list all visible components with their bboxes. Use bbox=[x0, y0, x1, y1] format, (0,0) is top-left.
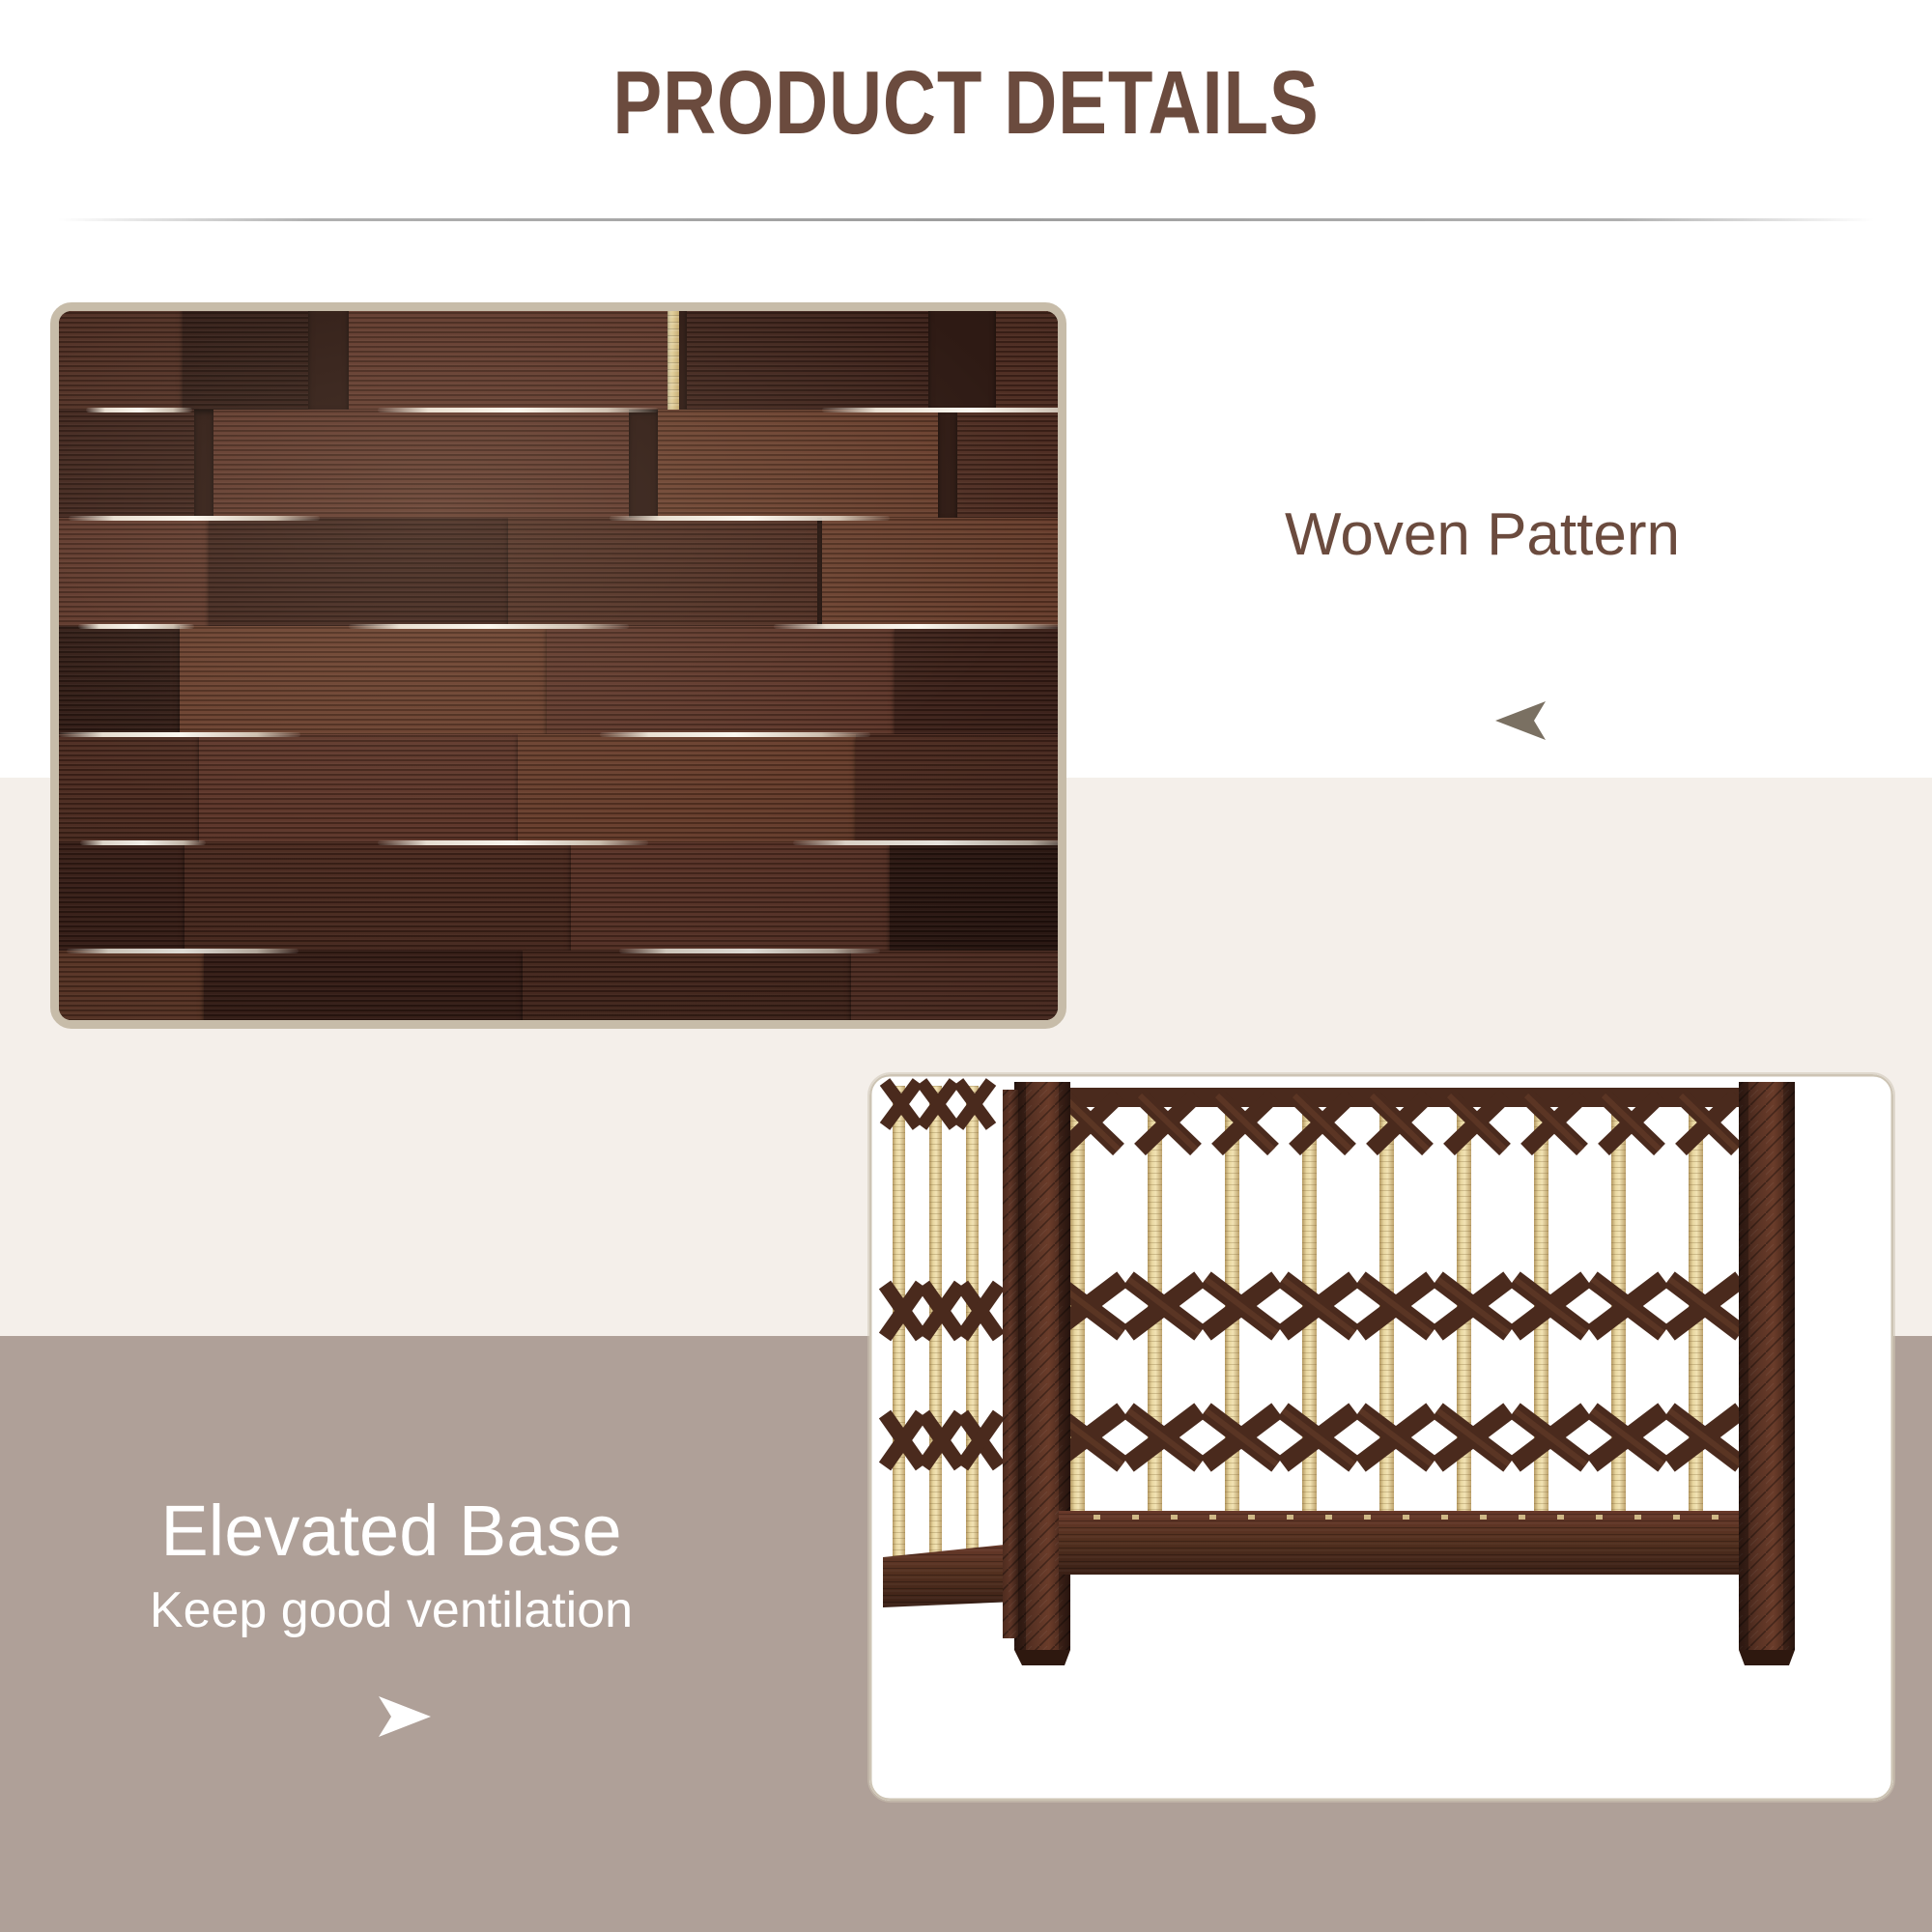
weave-gap-highlight bbox=[774, 624, 1064, 629]
weave-slat bbox=[204, 951, 523, 1029]
weave-gap-highlight bbox=[78, 624, 194, 629]
corner-post bbox=[1014, 1082, 1070, 1665]
arrow-right-icon bbox=[375, 1696, 431, 1737]
weave-slat bbox=[571, 842, 890, 951]
weave-gap-highlight bbox=[378, 408, 658, 412]
weave-gap-highlight bbox=[80, 840, 206, 845]
weave-slat bbox=[895, 626, 1066, 734]
weave-slat bbox=[508, 518, 817, 626]
woven-pattern-label: Woven Pattern bbox=[1285, 500, 1680, 569]
weave-slat bbox=[213, 410, 629, 518]
weave-slat bbox=[523, 951, 851, 1029]
weave-slat bbox=[547, 626, 895, 734]
front-bottom-rail bbox=[1059, 1511, 1793, 1575]
weave-gap-highlight bbox=[610, 516, 890, 521]
weave-slat bbox=[856, 734, 1066, 842]
planter-illustration bbox=[869, 1074, 1893, 1801]
weave-slat bbox=[50, 410, 194, 518]
weave-gap-highlight bbox=[67, 949, 298, 953]
weave-gap-highlight bbox=[619, 949, 880, 953]
weave-slat bbox=[518, 734, 856, 842]
elevated-base-subtitle: Keep good ventilation bbox=[0, 1581, 782, 1639]
weave-slat bbox=[199, 734, 518, 842]
weave-slat bbox=[851, 951, 1066, 1029]
product-details-infographic: PRODUCT DETAILS bbox=[0, 0, 1932, 1932]
weave-slat bbox=[658, 410, 938, 518]
woven-texture bbox=[59, 311, 1058, 1020]
page-title: PRODUCT DETAILS bbox=[174, 56, 1758, 151]
weave-slat bbox=[50, 302, 185, 410]
weave-gap-highlight bbox=[793, 840, 1066, 845]
weave-slat bbox=[50, 626, 180, 734]
weave-slat bbox=[180, 626, 547, 734]
weave-slat bbox=[996, 302, 1066, 410]
weave-slat bbox=[890, 842, 1066, 951]
elevated-base-image bbox=[869, 1074, 1893, 1801]
weave-slat bbox=[209, 518, 508, 626]
weave-slat bbox=[50, 734, 199, 842]
weave-slat bbox=[185, 842, 571, 951]
woven-pattern-image bbox=[50, 302, 1066, 1029]
weave-slat bbox=[50, 518, 209, 626]
weave-slat bbox=[687, 302, 928, 410]
weave-slat bbox=[50, 951, 204, 1029]
elevated-base-title: Elevated Base bbox=[0, 1490, 782, 1572]
weave-slat bbox=[50, 842, 185, 951]
weave-gap-highlight bbox=[349, 624, 629, 629]
weave-slat bbox=[183, 302, 308, 410]
weave-gap-highlight bbox=[69, 516, 320, 521]
weave-gap-highlight bbox=[86, 408, 192, 412]
weave-slat bbox=[349, 302, 668, 410]
weave-gap-highlight bbox=[59, 732, 300, 737]
arrow-left-icon bbox=[1495, 701, 1548, 740]
weave-slat bbox=[822, 518, 1066, 626]
weave-slat bbox=[957, 410, 1066, 518]
weave-gap-highlight bbox=[378, 840, 648, 845]
weave-gap-highlight bbox=[600, 732, 870, 737]
title-divider bbox=[58, 218, 1874, 221]
right-leg bbox=[1739, 1082, 1795, 1665]
rear-post-sliver bbox=[1003, 1090, 1018, 1638]
weave-gap-highlight bbox=[822, 408, 1066, 412]
